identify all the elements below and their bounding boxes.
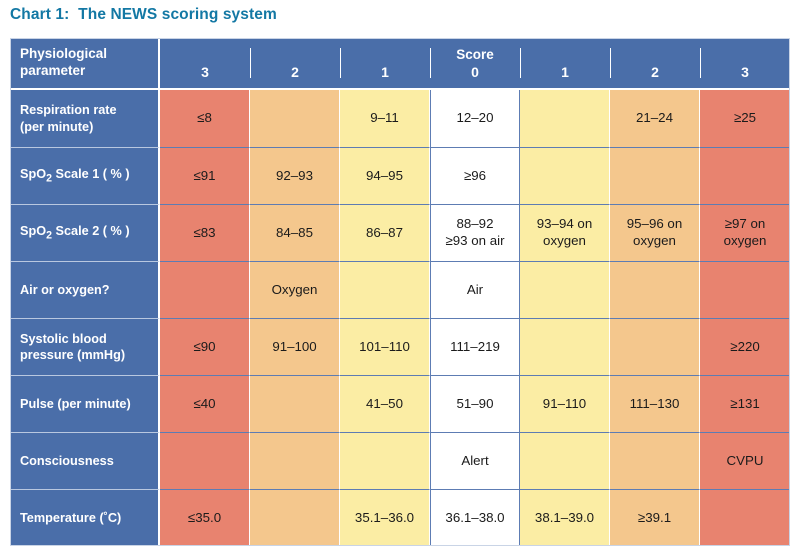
cell-r2-c1: 84–85	[250, 204, 340, 261]
cell-r7-c1	[250, 489, 340, 546]
cell-r4-c6: ≥220	[700, 318, 790, 375]
cell-r2-c0: ≤83	[160, 204, 250, 261]
cell-r7-c5: ≥39.1	[610, 489, 700, 546]
header-score-label: Score	[160, 38, 790, 64]
cell-r4-c4	[520, 318, 610, 375]
cell-r0-c5: 21–24	[610, 90, 700, 147]
cell-r7-c0: ≤35.0	[160, 489, 250, 546]
score-column-header-3: 0	[430, 64, 520, 90]
cell-r7-c2: 35.1–36.0	[340, 489, 430, 546]
cell-r3-c6	[700, 261, 790, 318]
cell-r0-c1	[250, 90, 340, 147]
cell-r2-c4: 93–94 onoxygen	[520, 204, 610, 261]
table-row: Systolic bloodpressure (mmHg)≤9091–10010…	[10, 318, 790, 375]
cell-r5-c1	[250, 375, 340, 432]
row-label-4: Systolic bloodpressure (mmHg)	[10, 318, 160, 375]
cell-r1-c2: 94–95	[340, 147, 430, 204]
cell-r3-c3: Air	[430, 261, 520, 318]
cell-r5-c5: 111–130	[610, 375, 700, 432]
cell-r0-c0: ≤8	[160, 90, 250, 147]
cell-r6-c2	[340, 432, 430, 489]
cell-r5-c4: 91–110	[520, 375, 610, 432]
cell-r7-c4: 38.1–39.0	[520, 489, 610, 546]
cell-line: oxygen	[701, 233, 789, 250]
cell-r3-c4	[520, 261, 610, 318]
header-param-line: parameter	[20, 63, 85, 78]
table-row: SpO2 Scale 2 ( % )≤8384–8586–8788–92≥93 …	[10, 204, 790, 261]
cell-r4-c3: 111–219	[430, 318, 520, 375]
cell-line: oxygen	[521, 233, 608, 250]
cell-r2-c5: 95–96 onoxygen	[610, 204, 700, 261]
score-column-header-5: 2	[610, 64, 700, 90]
cell-r0-c3: 12–20	[430, 90, 520, 147]
table-row: SpO2 Scale 1 ( % )≤9192–9394–95≥96	[10, 147, 790, 204]
table-row: Temperature (˚C)≤35.035.1–36.036.1–38.03…	[10, 489, 790, 546]
cell-r6-c0	[160, 432, 250, 489]
cell-r1-c1: 92–93	[250, 147, 340, 204]
table-row: Pulse (per minute)≤4041–5051–9091–110111…	[10, 375, 790, 432]
table-row: Air or oxygen?OxygenAir	[10, 261, 790, 318]
cell-r0-c4	[520, 90, 610, 147]
cell-r4-c0: ≤90	[160, 318, 250, 375]
cell-r6-c4	[520, 432, 610, 489]
cell-r0-c2: 9–11	[340, 90, 430, 147]
cell-r6-c6: CVPU	[700, 432, 790, 489]
cell-r2-c3: 88–92≥93 on air	[430, 204, 520, 261]
row-label-0: Respiration rate(per minute)	[10, 90, 160, 147]
cell-line: 93–94 on	[521, 216, 608, 233]
row-label-5: Pulse (per minute)	[10, 375, 160, 432]
cell-r6-c3: Alert	[430, 432, 520, 489]
cell-r1-c4	[520, 147, 610, 204]
table-header: Physiologicalparameter Score 3210123	[10, 38, 790, 90]
score-column-header-0: 3	[160, 64, 250, 90]
cell-r5-c2: 41–50	[340, 375, 430, 432]
cell-r0-c6: ≥25	[700, 90, 790, 147]
score-column-header-2: 1	[340, 64, 430, 90]
cell-r2-c2: 86–87	[340, 204, 430, 261]
header-row-score: Physiologicalparameter Score	[10, 38, 790, 64]
cell-r1-c3: ≥96	[430, 147, 520, 204]
row-label-3: Air or oxygen?	[10, 261, 160, 318]
cell-r3-c2	[340, 261, 430, 318]
cell-r5-c3: 51–90	[430, 375, 520, 432]
header-physiological-parameter: Physiologicalparameter	[10, 38, 160, 90]
row-label-7: Temperature (˚C)	[10, 489, 160, 546]
table-row: Respiration rate(per minute)≤89–1112–202…	[10, 90, 790, 147]
news-scoring-table: Physiologicalparameter Score 3210123 Res…	[10, 38, 790, 546]
cell-r5-c6: ≥131	[700, 375, 790, 432]
cell-r4-c1: 91–100	[250, 318, 340, 375]
cell-r3-c0	[160, 261, 250, 318]
cell-line: ≥97 on	[701, 216, 789, 233]
table-row: ConsciousnessAlertCVPU	[10, 432, 790, 489]
row-label-6: Consciousness	[10, 432, 160, 489]
cell-r2-c6: ≥97 onoxygen	[700, 204, 790, 261]
cell-r6-c5	[610, 432, 700, 489]
row-label-2: SpO2 Scale 2 ( % )	[10, 204, 160, 261]
cell-r1-c6	[700, 147, 790, 204]
page-title: Chart 1: The NEWS scoring system	[10, 6, 277, 24]
cell-r7-c3: 36.1–38.0	[430, 489, 520, 546]
cell-r6-c1	[250, 432, 340, 489]
cell-line: 88–92	[432, 216, 518, 233]
cell-line: ≥93 on air	[432, 233, 518, 250]
cell-r3-c5	[610, 261, 700, 318]
cell-r7-c6	[700, 489, 790, 546]
header-param-line: Physiological	[20, 46, 107, 61]
cell-r1-c0: ≤91	[160, 147, 250, 204]
cell-r1-c5	[610, 147, 700, 204]
score-column-header-4: 1	[520, 64, 610, 90]
score-column-header-1: 2	[250, 64, 340, 90]
score-column-header-6: 3	[700, 64, 790, 90]
cell-r4-c5	[610, 318, 700, 375]
cell-line: oxygen	[611, 233, 698, 250]
row-label-1: SpO2 Scale 1 ( % )	[10, 147, 160, 204]
cell-r5-c0: ≤40	[160, 375, 250, 432]
table-body: Respiration rate(per minute)≤89–1112–202…	[10, 90, 790, 546]
cell-r4-c2: 101–110	[340, 318, 430, 375]
cell-line: 95–96 on	[611, 216, 698, 233]
cell-r3-c1: Oxygen	[250, 261, 340, 318]
